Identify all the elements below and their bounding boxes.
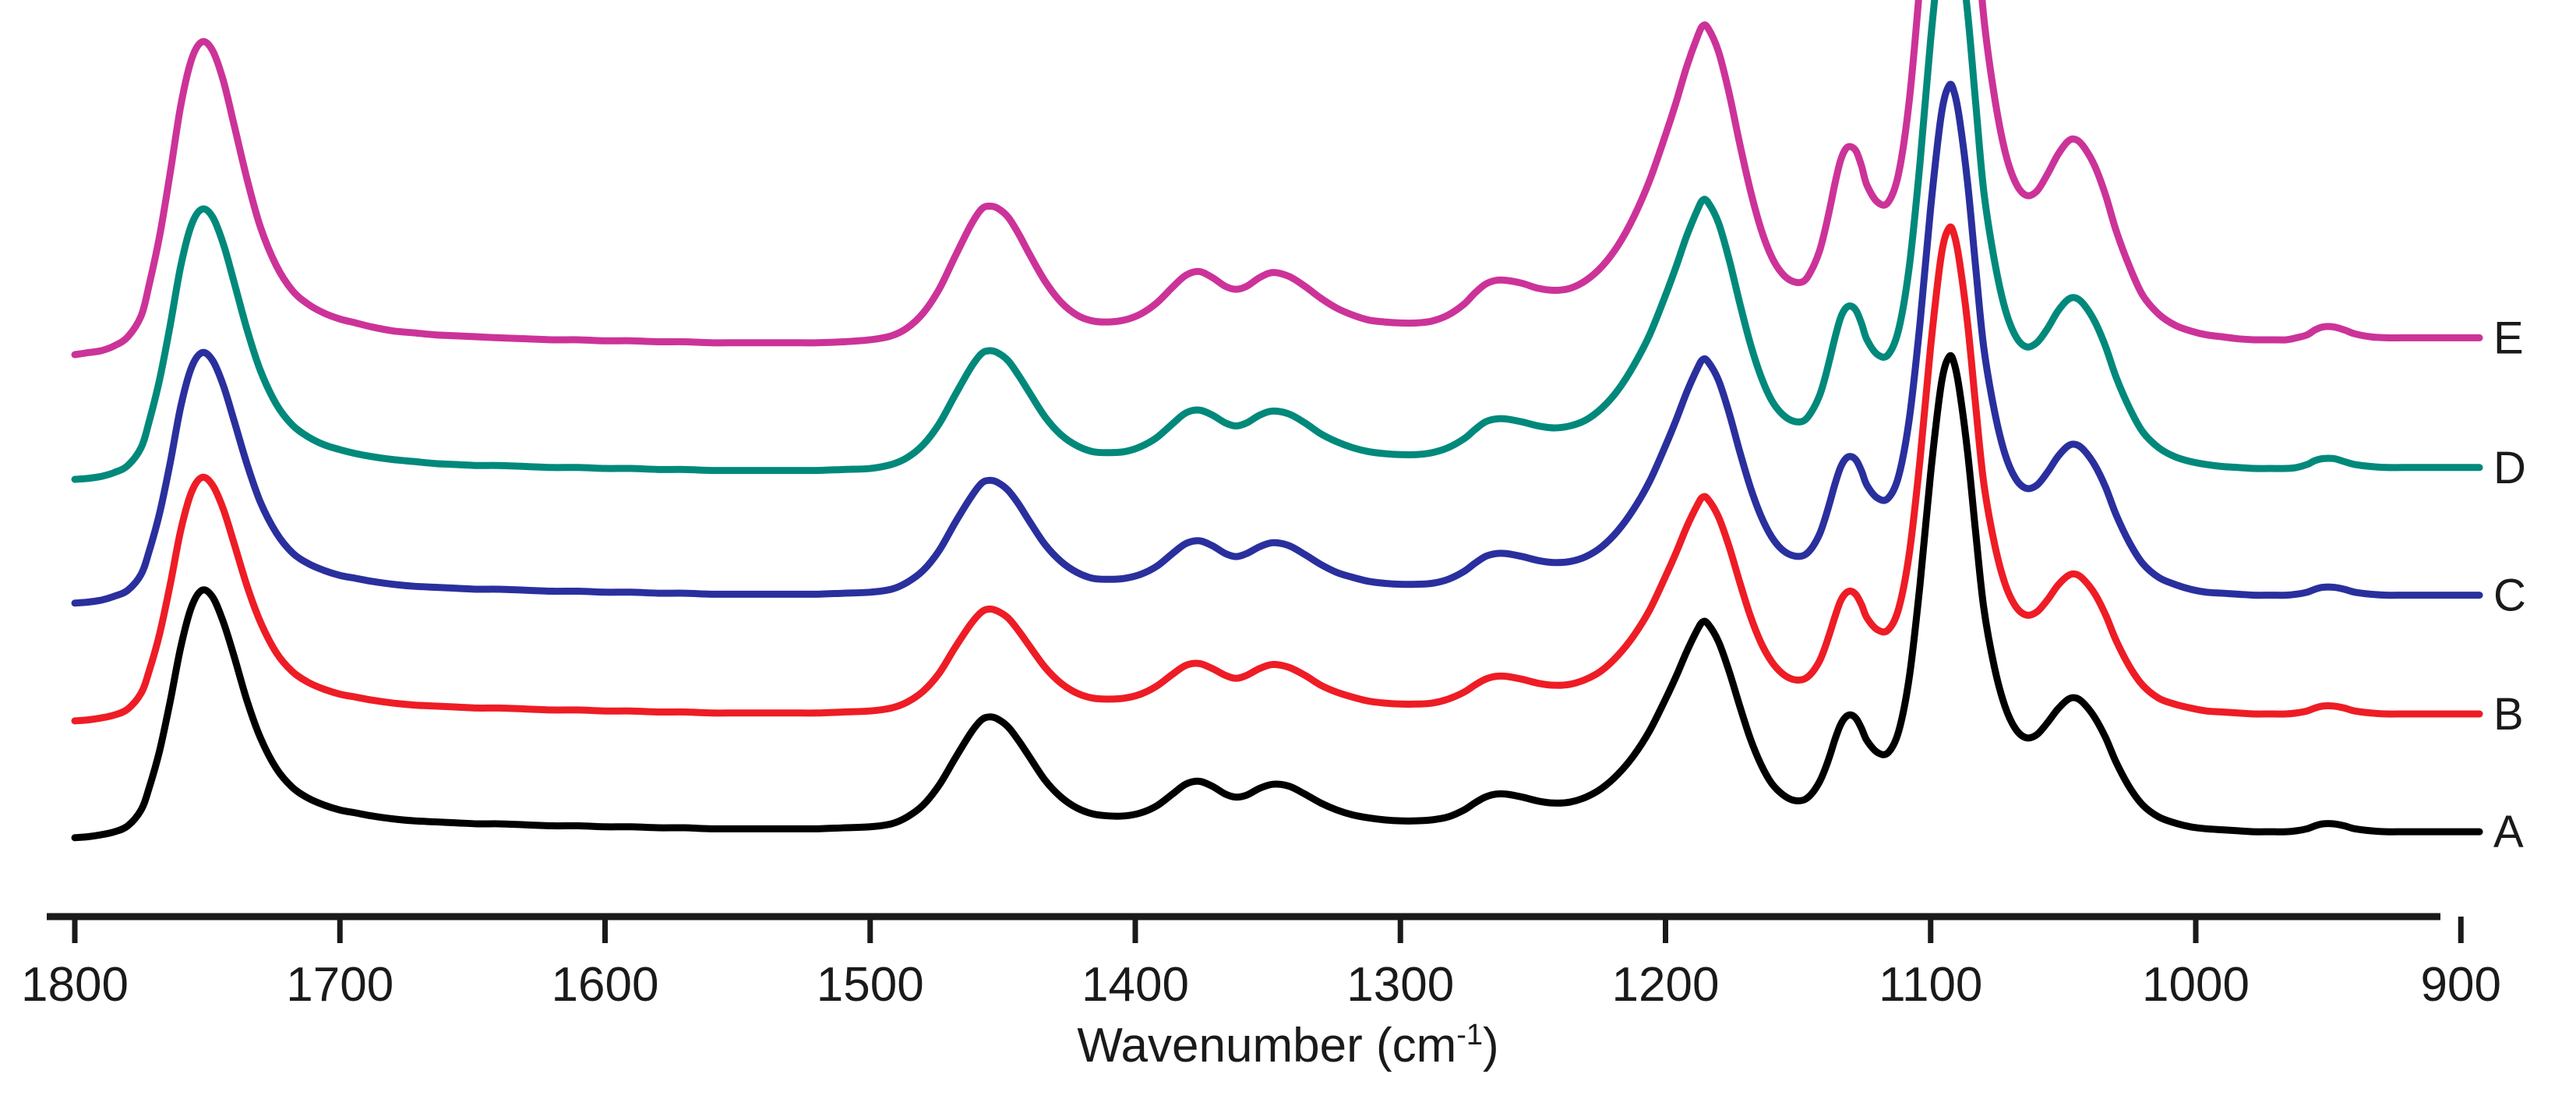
x-tick-label-1200: 1200 [1612, 958, 1720, 1012]
spectrum-line-b [75, 227, 2479, 721]
spectrum-line-a [75, 355, 2479, 838]
x-tick-label-1000: 1000 [2142, 958, 2250, 1012]
series-label-b: B [2493, 689, 2524, 740]
x-tick-label-1800: 1800 [21, 958, 129, 1012]
x-tick-label-1700: 1700 [286, 958, 393, 1012]
series-labels: ABCDE [2493, 313, 2526, 857]
series-label-c: C [2493, 571, 2526, 621]
x-axis-title: Wavenumber (cm-1) [1077, 1019, 1498, 1072]
series-label-d: D [2493, 443, 2526, 493]
x-tick-label-1400: 1400 [1082, 958, 1189, 1012]
x-tick-labels: 180017001600150014001300120011001000900 [21, 958, 2501, 1012]
x-tick-label-1500: 1500 [817, 958, 924, 1012]
ftir-spectra-figure: 180017001600150014001300120011001000900 … [0, 0, 2576, 1106]
spectrum-line-e [75, 0, 2479, 355]
spectrum-line-c [75, 84, 2479, 603]
x-tick-label-900: 900 [2421, 958, 2501, 1012]
x-tick-label-1100: 1100 [1879, 958, 1982, 1012]
x-tick-label-1600: 1600 [552, 958, 659, 1012]
x-tick-label-1300: 1300 [1346, 958, 1454, 1012]
series-label-a: A [2493, 807, 2524, 857]
series-label-e: E [2493, 313, 2524, 363]
spectra-plot: 180017001600150014001300120011001000900 … [0, 0, 2576, 1106]
x-axis-group [47, 917, 2461, 943]
spectra-series-group [75, 0, 2479, 838]
